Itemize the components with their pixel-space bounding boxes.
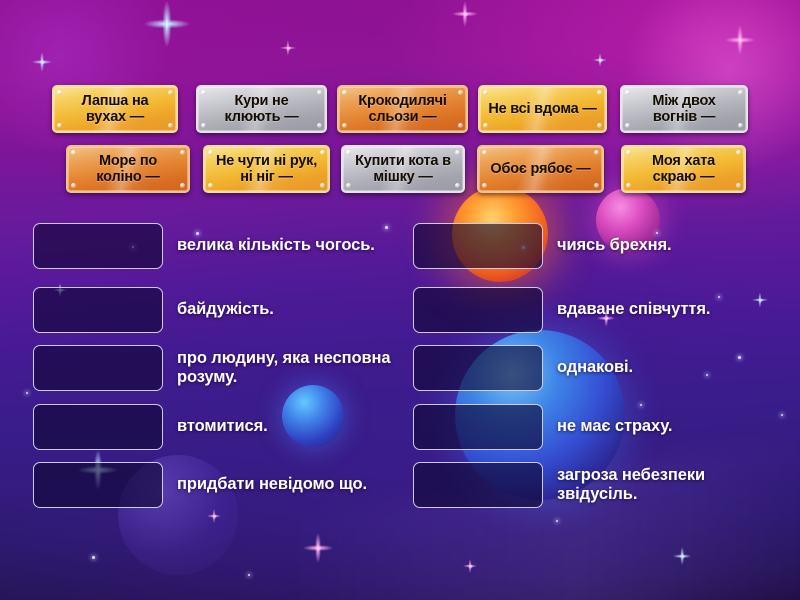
rivet-icon — [320, 150, 325, 155]
rivet-icon — [738, 90, 743, 95]
answer-row: чиясь брехня. — [413, 223, 672, 269]
answer-row: про людину, яка несповна розуму. — [33, 345, 409, 391]
prompt-tile[interactable]: Крокодилячі сльози — — [337, 85, 468, 133]
sparkle-star-icon — [280, 40, 296, 56]
sparkle-star-icon — [144, 1, 190, 47]
prompt-tile-label: Лапша на вухах — — [62, 93, 168, 125]
star-dot — [706, 374, 708, 376]
answer-row: придбати невідомо що. — [33, 462, 367, 508]
answer-definition-text: чиясь брехня. — [557, 236, 672, 255]
blue-planet-small — [282, 385, 344, 447]
sparkle-star-icon — [463, 559, 477, 573]
prompt-tile-label: Між двох вогнів — — [630, 93, 738, 125]
rivet-icon — [201, 90, 206, 95]
answer-definition-text: велика кількість чогось. — [177, 236, 375, 255]
rivet-icon — [736, 150, 741, 155]
rivet-icon — [626, 183, 631, 188]
rivet-icon — [71, 150, 76, 155]
rivet-icon — [208, 183, 213, 188]
rivet-icon — [625, 123, 630, 128]
sparkle-star-icon — [725, 25, 755, 55]
prompt-tile-label: Обоє рябоє — — [490, 161, 590, 177]
sparkle-star-icon — [452, 1, 478, 27]
star-core — [758, 298, 763, 303]
rivet-icon — [483, 123, 488, 128]
star-core — [598, 58, 603, 63]
star-core — [680, 554, 685, 559]
rivet-icon — [208, 150, 213, 155]
answer-row: велика кількість чогось. — [33, 223, 375, 269]
answer-definition-text: загроза небезпеки звідусіль. — [557, 466, 789, 505]
answer-drop-slot[interactable] — [33, 404, 163, 450]
answer-drop-slot[interactable] — [33, 287, 163, 333]
star-dot — [718, 296, 720, 298]
sparkle-star-icon — [303, 533, 333, 563]
rivet-icon — [626, 150, 631, 155]
prompt-tile[interactable]: Моя хата скраю — — [621, 145, 746, 193]
answer-definition-text: байдужість. — [177, 300, 274, 319]
star-dot — [26, 392, 28, 394]
rivet-icon — [317, 123, 322, 128]
star-core — [40, 60, 45, 65]
prompt-tile-label: Не всі вдома — — [488, 101, 596, 117]
star-core — [286, 46, 291, 51]
star-dot — [556, 520, 558, 522]
prompt-tile-label: Море по коліно — — [76, 153, 180, 185]
rivet-icon — [71, 183, 76, 188]
rivet-icon — [483, 90, 488, 95]
rivet-icon — [594, 150, 599, 155]
rivet-icon — [482, 150, 487, 155]
answer-definition-text: придбати невідомо що. — [177, 475, 367, 494]
star-dot — [385, 226, 388, 229]
rivet-icon — [346, 150, 351, 155]
rivet-icon — [455, 150, 460, 155]
rivet-icon — [57, 90, 62, 95]
answer-row: не має страху. — [413, 404, 672, 450]
star-dot — [781, 414, 783, 416]
answer-row: вдаване співчуття. — [413, 287, 710, 333]
star-dot — [738, 356, 741, 359]
answer-drop-slot[interactable] — [33, 345, 163, 391]
answer-drop-slot[interactable] — [413, 345, 543, 391]
star-core — [165, 22, 170, 27]
rivet-icon — [320, 183, 325, 188]
rivet-icon — [597, 90, 602, 95]
star-core — [738, 38, 743, 43]
rivet-icon — [455, 183, 460, 188]
answer-row: втомитися. — [33, 404, 268, 450]
answer-row: однакові. — [413, 345, 633, 391]
sparkle-star-icon — [207, 509, 221, 523]
rivet-icon — [180, 183, 185, 188]
rivet-icon — [201, 123, 206, 128]
rivet-icon — [346, 183, 351, 188]
rivet-icon — [594, 183, 599, 188]
prompt-tile-label: Не чути ні рук, ні ніг — — [213, 153, 320, 185]
rivet-icon — [342, 123, 347, 128]
prompt-tile[interactable]: Море по коліно — — [66, 145, 190, 193]
rivet-icon — [317, 90, 322, 95]
rivet-icon — [625, 90, 630, 95]
rivet-icon — [458, 90, 463, 95]
answer-drop-slot[interactable] — [33, 462, 163, 508]
prompt-tile-label: Кури не клюють — — [206, 93, 317, 125]
answer-definition-text: вдаване співчуття. — [557, 300, 710, 319]
star-core — [468, 564, 473, 569]
prompt-tile[interactable]: Купити кота в мішку — — [341, 145, 465, 193]
rivet-icon — [168, 123, 173, 128]
rivet-icon — [458, 123, 463, 128]
rivet-icon — [738, 123, 743, 128]
prompt-tile[interactable]: Обоє рябоє — — [477, 145, 604, 193]
rivet-icon — [57, 123, 62, 128]
prompt-tile[interactable]: Лапша на вухах — — [52, 85, 178, 133]
rivet-icon — [180, 150, 185, 155]
star-core — [212, 514, 217, 519]
rivet-icon — [482, 183, 487, 188]
answer-definition-text: втомитися. — [177, 417, 268, 436]
rivet-icon — [597, 123, 602, 128]
prompt-tile[interactable]: Між двох вогнів — — [620, 85, 748, 133]
sparkle-star-icon — [32, 52, 52, 72]
prompt-tile[interactable]: Кури не клюють — — [196, 85, 327, 133]
answer-drop-slot[interactable] — [413, 223, 543, 269]
prompt-tile[interactable]: Не всі вдома — — [478, 85, 607, 133]
answer-row: байдужість. — [33, 287, 274, 333]
answer-definition-text: не має страху. — [557, 417, 672, 436]
rivet-icon — [736, 183, 741, 188]
star-core — [463, 12, 468, 17]
match-up-activity-stage: Лапша на вухах —Кури не клюють —Крокодил… — [0, 0, 800, 600]
answer-row: загроза небезпеки звідусіль. — [413, 462, 789, 508]
answer-definition-text: про людину, яка несповна розуму. — [177, 349, 409, 388]
answer-drop-slot[interactable] — [413, 287, 543, 333]
prompt-tile-label: Купити кота в мішку — — [351, 153, 455, 185]
rivet-icon — [168, 90, 173, 95]
prompt-tile-label: Моя хата скраю — — [631, 153, 736, 185]
answer-drop-slot[interactable] — [413, 404, 543, 450]
answer-definition-text: однакові. — [557, 358, 633, 377]
answer-drop-slot[interactable] — [33, 223, 163, 269]
rivet-icon — [342, 90, 347, 95]
sparkle-star-icon — [593, 53, 607, 67]
answer-drop-slot[interactable] — [413, 462, 543, 508]
prompt-tile-label: Крокодилячі сльози — — [347, 93, 458, 125]
star-dot — [248, 574, 250, 576]
prompt-tile[interactable]: Не чути ні рук, ні ніг — — [203, 145, 330, 193]
sparkle-star-icon — [752, 292, 768, 308]
star-dot — [92, 556, 95, 559]
star-core — [316, 546, 321, 551]
sparkle-star-icon — [673, 547, 691, 565]
